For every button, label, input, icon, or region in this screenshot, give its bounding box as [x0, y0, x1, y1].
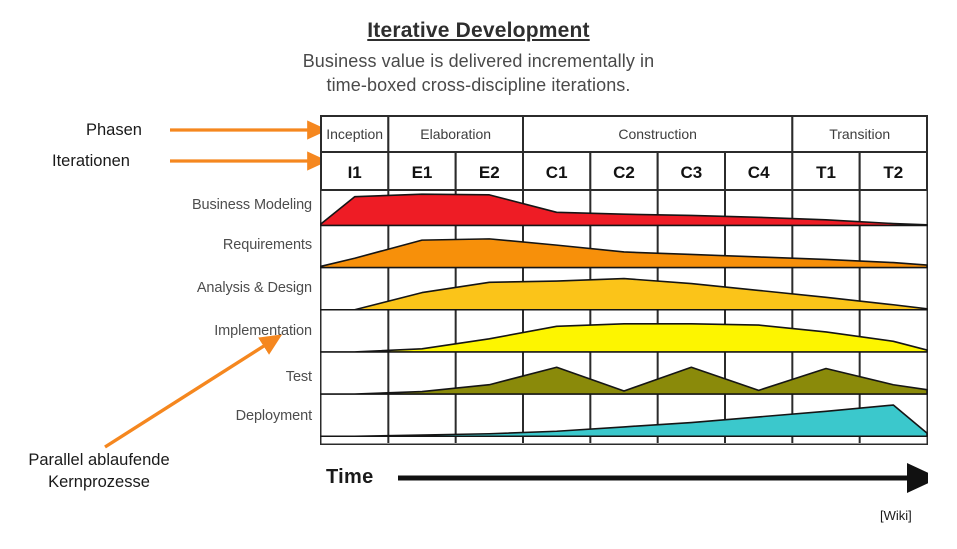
time-axis-label: Time	[326, 466, 374, 489]
iteration-label: T2	[883, 163, 903, 182]
phase-label: Transition	[829, 126, 890, 142]
iteration-label: E2	[479, 163, 500, 182]
iterative-development-chart: InceptionElaborationConstructionTransiti…	[320, 115, 928, 445]
iteration-header-row: I1E1E2C1C2C3C4T1T2	[321, 152, 927, 190]
phase-label: Inception	[326, 126, 383, 142]
time-axis: Time	[320, 462, 928, 502]
source-credit: [Wiki]	[880, 508, 912, 523]
time-axis-arrow-icon	[320, 462, 928, 502]
discipline-label-analysis-design: Analysis & Design	[197, 280, 312, 296]
discipline-label-test: Test	[286, 369, 312, 385]
discipline-label-column: Business Modeling Requirements Analysis …	[140, 183, 312, 435]
iteration-label: C4	[748, 163, 770, 182]
discipline-label-deployment: Deployment	[236, 408, 312, 424]
iteration-label: E1	[412, 163, 433, 182]
phase-label: Elaboration	[420, 126, 491, 142]
phase-label: Construction	[618, 126, 697, 142]
iteration-label: C1	[546, 163, 568, 182]
discipline-label-business-modeling: Business Modeling	[192, 197, 312, 213]
chart-svg: InceptionElaborationConstructionTransiti…	[320, 115, 928, 445]
discipline-label-requirements: Requirements	[223, 237, 312, 253]
iteration-label: I1	[348, 163, 362, 182]
discipline-label-implementation: Implementation	[214, 323, 312, 339]
iteration-label: T1	[816, 163, 836, 182]
phase-header-row: InceptionElaborationConstructionTransiti…	[321, 116, 927, 152]
iteration-label: C2	[613, 163, 635, 182]
iteration-label: C3	[680, 163, 702, 182]
